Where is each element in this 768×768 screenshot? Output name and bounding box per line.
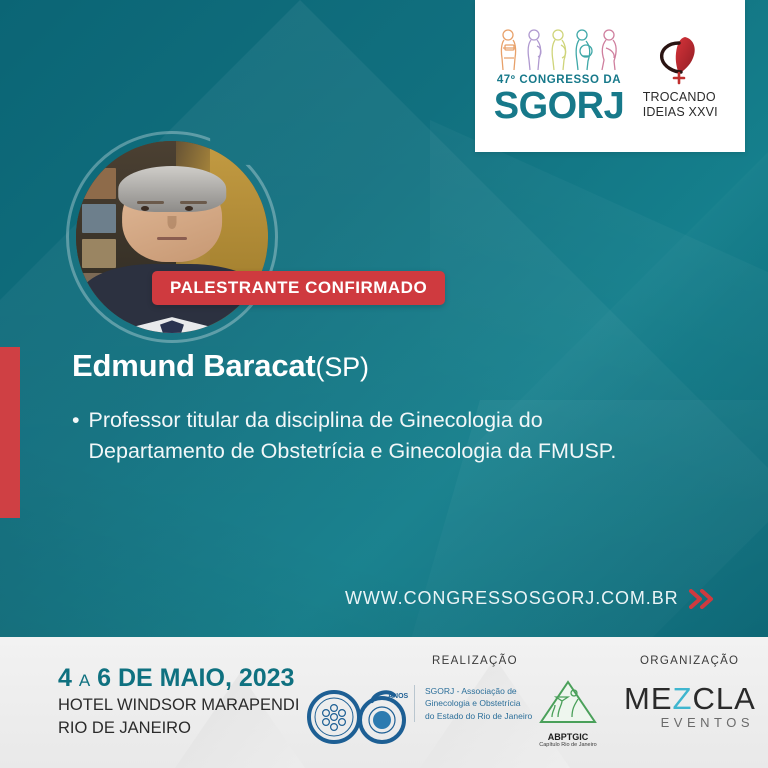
organizacao-label: ORGANIZAÇÃO — [640, 655, 739, 667]
event-date-block: 4 A 6 DE MAIO, 2023 HOTEL WINDSOR MARAPE… — [58, 665, 299, 739]
mezcla-eventos-logo: MEZCLA EVENTOS — [624, 683, 754, 730]
sgorj-sub-3: do Estado do Rio de Janeiro — [425, 710, 532, 722]
trocando-ideias-text: TROCANDO IDEIAS XXVI — [643, 90, 718, 120]
mezcla-subtitle: EVENTOS — [624, 715, 754, 730]
status-badge: PALESTRANTE CONFIRMADO — [152, 271, 445, 305]
event-poster: 47º CONGRESSO DA SGORJ TROCAN — [0, 0, 768, 768]
svg-text:ANOS: ANOS — [388, 693, 409, 700]
speaker-name-text: Edmund Baracat — [72, 348, 316, 383]
speaker-state: (SP) — [316, 352, 369, 382]
venue-line-2: RIO DE JANEIRO — [58, 718, 299, 739]
trocando-ideias-logo: TROCANDO IDEIAS XXVI — [634, 33, 726, 120]
abptgic-logo: ABPTGIC Capítulo Rio de Janeiro — [536, 679, 600, 748]
hair — [118, 166, 226, 212]
figure-icon-4 — [573, 28, 595, 72]
abptgic-name: ABPTGIC — [536, 732, 600, 742]
date-separator: A — [79, 671, 90, 690]
website-url-text: WWW.CONGRESSOSGORJ.COM.BR — [345, 588, 679, 609]
sgorj-organization-text: SGORJ - Associação de Ginecologia e Obst… — [414, 685, 532, 722]
figure-icon-3 — [548, 28, 570, 72]
trocando-line-1: TROCANDO — [643, 90, 718, 105]
mezcla-wordmark: MEZCLA — [624, 683, 754, 714]
figure-icon-2 — [523, 28, 545, 72]
sgorj-sub-2: Ginecologia e Obstetrícia — [425, 697, 532, 709]
mezcla-me: ME — [624, 681, 673, 716]
poster-footer: 4 A 6 DE MAIO, 2023 HOTEL WINDSOR MARAPE… — [0, 637, 768, 768]
realizacao-label: REALIZAÇÃO — [432, 655, 518, 667]
mezcla-z: Z — [673, 681, 693, 716]
congress-logo-card: 47º CONGRESSO DA SGORJ TROCAN — [475, 0, 745, 152]
date-from: 4 — [58, 664, 72, 692]
double-chevron-right-icon — [689, 589, 715, 609]
figure-icon-5 — [598, 28, 620, 72]
speaker-photo — [66, 131, 278, 343]
date-to: 6 DE MAIO, 2023 — [97, 664, 294, 692]
venue-line-1: HOTEL WINDSOR MARAPENDI — [58, 695, 299, 716]
sgorj-sub-1: SGORJ - Associação de — [425, 685, 532, 697]
sgorj-logo: 47º CONGRESSO DA SGORJ — [494, 28, 625, 124]
bullet-dot-icon: • — [72, 405, 80, 467]
sgorj-60-anos-logo: ANOS — [306, 684, 411, 746]
list-item: • Professor titular da disciplina de Gin… — [72, 405, 632, 467]
trocando-line-2: IDEIAS XXVI — [643, 105, 718, 120]
trocando-heart-icon — [655, 33, 705, 85]
speaker-bio-list: • Professor titular da disciplina de Gin… — [72, 405, 632, 467]
bio-text: Professor titular da disciplina de Ginec… — [89, 405, 632, 467]
mezcla-cla: CLA — [692, 681, 755, 716]
red-accent-bar — [0, 347, 20, 518]
website-link[interactable]: WWW.CONGRESSOSGORJ.COM.BR — [345, 588, 715, 609]
speaker-name: Edmund Baracat(SP) — [72, 348, 369, 384]
abptgic-triangle-icon — [538, 679, 598, 725]
figure-icon-1 — [498, 28, 520, 72]
abptgic-subtitle: Capítulo Rio de Janeiro — [536, 742, 600, 748]
event-date: 4 A 6 DE MAIO, 2023 — [58, 665, 299, 693]
sgorj-wordmark: SGORJ — [494, 88, 625, 124]
pregnant-women-figures-icon — [498, 28, 620, 72]
